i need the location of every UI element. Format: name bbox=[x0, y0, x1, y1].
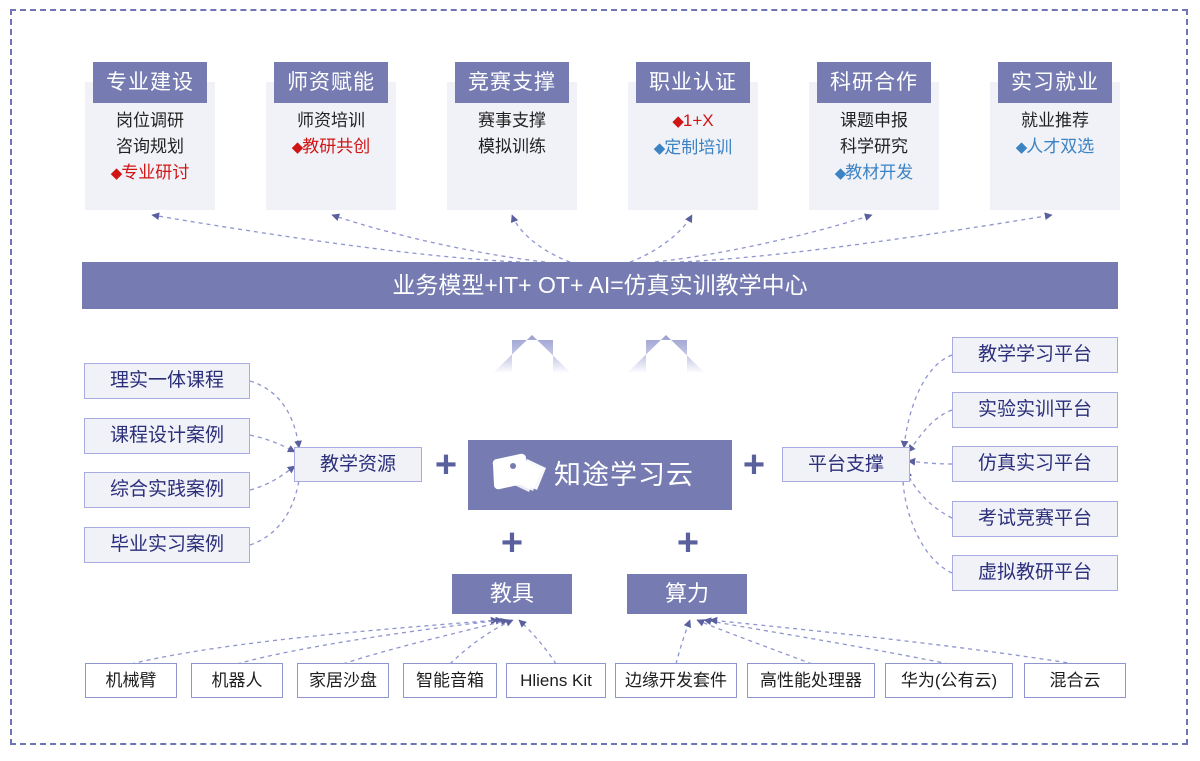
bottom-item-8[interactable]: 混合云 bbox=[1024, 663, 1126, 698]
diamond-marker-icon: ◆ bbox=[654, 140, 665, 157]
card-item: ◆教材开发 bbox=[809, 160, 939, 187]
card-item: 岗位调研 bbox=[85, 108, 215, 134]
card-item: 就业推荐 bbox=[990, 108, 1120, 134]
right-platform-box-2[interactable]: 仿真实习平台 bbox=[952, 446, 1118, 482]
card-items: ◆1+X ◆定制培训 bbox=[628, 108, 758, 162]
card-item: 课题申报 bbox=[809, 108, 939, 134]
card-title: 师资赋能 bbox=[274, 62, 388, 103]
left-resource-box-0[interactable]: 理实一体课程 bbox=[84, 363, 250, 399]
card-item: ◆教研共创 bbox=[266, 134, 396, 161]
bottom-item-0[interactable]: 机械臂 bbox=[85, 663, 177, 698]
diamond-marker-icon: ◆ bbox=[672, 113, 683, 130]
card-title: 专业建设 bbox=[93, 62, 207, 103]
card-items: 课题申报 科学研究 ◆教材开发 bbox=[809, 108, 939, 187]
card-item: 模拟训练 bbox=[447, 134, 577, 160]
card-item: 师资培训 bbox=[266, 108, 396, 134]
left-resource-box-3[interactable]: 毕业实习案例 bbox=[84, 527, 250, 563]
card-items: 赛事支撑 模拟训练 bbox=[447, 108, 577, 160]
platform-support-box[interactable]: 平台支撑 bbox=[782, 447, 910, 482]
bottom-item-4[interactable]: Hliens Kit bbox=[506, 663, 606, 698]
bottom-item-7[interactable]: 华为(公有云) bbox=[885, 663, 1013, 698]
plus-under-right: + bbox=[670, 524, 706, 562]
card-title: 科研合作 bbox=[817, 62, 931, 103]
left-resource-box-2[interactable]: 综合实践案例 bbox=[84, 472, 250, 508]
card-items: 师资培训 ◆教研共创 bbox=[266, 108, 396, 161]
card-item: ◆专业研讨 bbox=[85, 160, 215, 187]
diamond-marker-icon: ◆ bbox=[1016, 139, 1027, 156]
right-platform-box-4[interactable]: 虚拟教研平台 bbox=[952, 555, 1118, 591]
plus-left: + bbox=[428, 446, 464, 484]
center-banner: 业务模型+IT+ OT+ AI=仿真实训教学中心 bbox=[82, 262, 1118, 309]
card-item: ◆1+X bbox=[628, 108, 758, 135]
teaching-resource-box[interactable]: 教学资源 bbox=[294, 447, 422, 482]
diagram-canvas: 专业建设 岗位调研 咨询规划 ◆专业研讨 师资赋能 师资培训 ◆教研共创 竞赛支… bbox=[0, 0, 1200, 761]
right-platform-box-1[interactable]: 实验实训平台 bbox=[952, 392, 1118, 428]
bottom-item-2[interactable]: 家居沙盘 bbox=[297, 663, 389, 698]
plus-under-left: + bbox=[494, 524, 530, 562]
teaching-aid-box[interactable]: 教具 bbox=[452, 574, 572, 614]
diamond-marker-icon: ◆ bbox=[835, 165, 846, 182]
card-item: 咨询规划 bbox=[85, 134, 215, 160]
card-item: 赛事支撑 bbox=[447, 108, 577, 134]
card-item: ◆人才双选 bbox=[990, 134, 1120, 161]
book-stack-icon bbox=[486, 451, 548, 499]
compute-power-box[interactable]: 算力 bbox=[627, 574, 747, 614]
bottom-item-5[interactable]: 边缘开发套件 bbox=[615, 663, 737, 698]
right-platform-box-0[interactable]: 教学学习平台 bbox=[952, 337, 1118, 373]
bottom-item-3[interactable]: 智能音箱 bbox=[403, 663, 497, 698]
card-item: 科学研究 bbox=[809, 134, 939, 160]
card-title: 竞赛支撑 bbox=[455, 62, 569, 103]
card-items: 岗位调研 咨询规划 ◆专业研讨 bbox=[85, 108, 215, 187]
card-item: ◆定制培训 bbox=[628, 135, 758, 162]
card-title: 实习就业 bbox=[998, 62, 1112, 103]
diamond-marker-icon: ◆ bbox=[111, 165, 122, 182]
left-resource-box-1[interactable]: 课程设计案例 bbox=[84, 418, 250, 454]
bottom-item-1[interactable]: 机器人 bbox=[191, 663, 283, 698]
plus-right: + bbox=[736, 446, 772, 484]
diamond-marker-icon: ◆ bbox=[292, 139, 303, 156]
logo-box[interactable]: 知途学习云 bbox=[468, 440, 732, 510]
right-platform-box-3[interactable]: 考试竞赛平台 bbox=[952, 501, 1118, 537]
bottom-item-6[interactable]: 高性能处理器 bbox=[747, 663, 875, 698]
logo-text: 知途学习云 bbox=[554, 440, 724, 510]
card-title: 职业认证 bbox=[636, 62, 750, 103]
card-items: 就业推荐 ◆人才双选 bbox=[990, 108, 1120, 161]
